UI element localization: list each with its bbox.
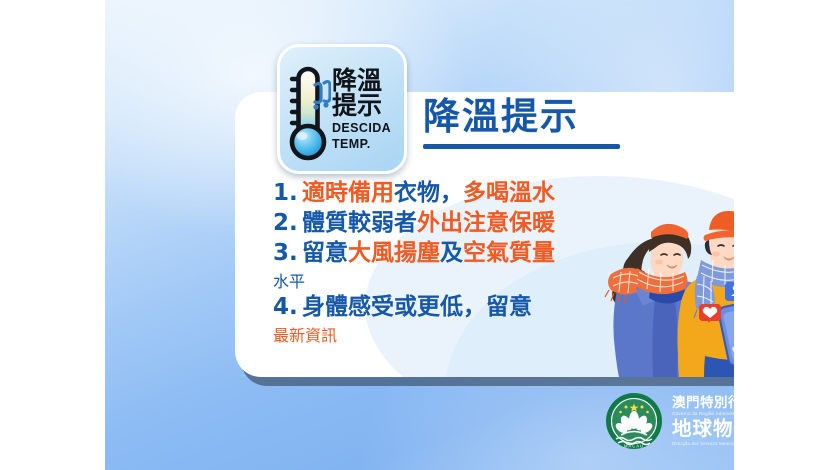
- advisory-item: 4.身體感受或更低，留意: [273, 292, 618, 322]
- advisory-text-segment: 適時備用: [302, 180, 394, 206]
- advisory-text-segment: 衣物，: [394, 180, 463, 206]
- advisory-list: 1.適時備用衣物，多喝溫水2.體質較弱者外出注意保暖3.留意大風揚塵及空氣質量水…: [273, 178, 618, 346]
- thermometer-cold-icon: [285, 55, 331, 163]
- macau-sar-emblem: MACAU: [605, 392, 663, 450]
- advisory-number: 3.: [273, 238, 302, 268]
- badge-text-group: 降溫 提示 DESCIDA TEMP.: [332, 68, 404, 151]
- badge-title-cn-line2: 提示: [332, 93, 401, 119]
- advisory-text-segment: 最新資訊: [273, 328, 337, 345]
- gov-name-cn: 澳門特別行政區政府: [672, 396, 734, 410]
- advisory-item: 2.體質較弱者外出注意保暖: [273, 208, 618, 238]
- social-user-badge: [725, 282, 734, 303]
- cold-alert-badge: 降溫 提示 DESCIDA TEMP.: [277, 44, 407, 174]
- badge-title-cn-line1: 降溫: [332, 68, 401, 94]
- advisory-text-segment: 空氣質量: [463, 240, 555, 266]
- advisory-text-segment: 水平: [273, 274, 305, 291]
- advisory-body: 留意大風揚塵及空氣質量: [302, 238, 618, 268]
- winter-couple-illustration: [573, 186, 734, 377]
- svg-text:MACAU: MACAU: [624, 444, 644, 449]
- advisory-text-segment: 外出注意保暖: [417, 210, 555, 236]
- advisory-number: 2.: [273, 208, 302, 238]
- badge-title-pt-line1: DESCIDA: [332, 122, 401, 135]
- advisory-text-segment: 身體感受或更低，留意: [302, 294, 532, 320]
- page-title: 降溫提示: [423, 98, 620, 135]
- bureau-name-pt: Direcção dos Serviços Meteorológicos e G…: [672, 441, 734, 447]
- advisory-text-segment: 大風揚塵: [348, 240, 440, 266]
- badge-title-pt-line2: TEMP.: [332, 138, 401, 151]
- advisory-number: 1.: [273, 178, 302, 208]
- advisory-text-segment: 多喝溫水: [463, 180, 555, 206]
- advisory-continuation: 最新資訊: [273, 322, 618, 346]
- advisory-body: 適時備用衣物，多喝溫水: [302, 178, 618, 208]
- page-title-group: 降溫提示: [423, 98, 620, 149]
- advisory-text-segment: 及: [440, 240, 463, 266]
- advisory-item: 1.適時備用衣物，多喝溫水: [273, 178, 618, 208]
- advisory-text-segment: 留意: [302, 240, 348, 266]
- macau-smg-logo: MACAU 澳門特別行政區政府 Governo da Região Admini…: [605, 388, 734, 454]
- bureau-name-cn: 地球物理氣象局: [672, 418, 734, 439]
- logo-text-group: 澳門特別行政區政府 Governo da Região Administrati…: [672, 396, 734, 447]
- advisory-number: 4.: [273, 292, 302, 322]
- poster-background: 降溫提示: [105, 0, 734, 470]
- gov-name-pt: Governo da Região Administrativa Especia…: [672, 411, 734, 417]
- title-underline: [423, 144, 620, 149]
- advisory-body: 身體感受或更低，留意: [302, 292, 618, 322]
- social-heart-badge: [699, 304, 721, 323]
- poster-screenshot: 降溫提示: [0, 0, 840, 470]
- advisory-body: 體質較弱者外出注意保暖: [302, 208, 618, 238]
- advisory-continuation: 水平: [273, 268, 618, 292]
- advisory-item: 3.留意大風揚塵及空氣質量: [273, 238, 618, 268]
- advisory-text-segment: 體質較弱者: [302, 210, 417, 236]
